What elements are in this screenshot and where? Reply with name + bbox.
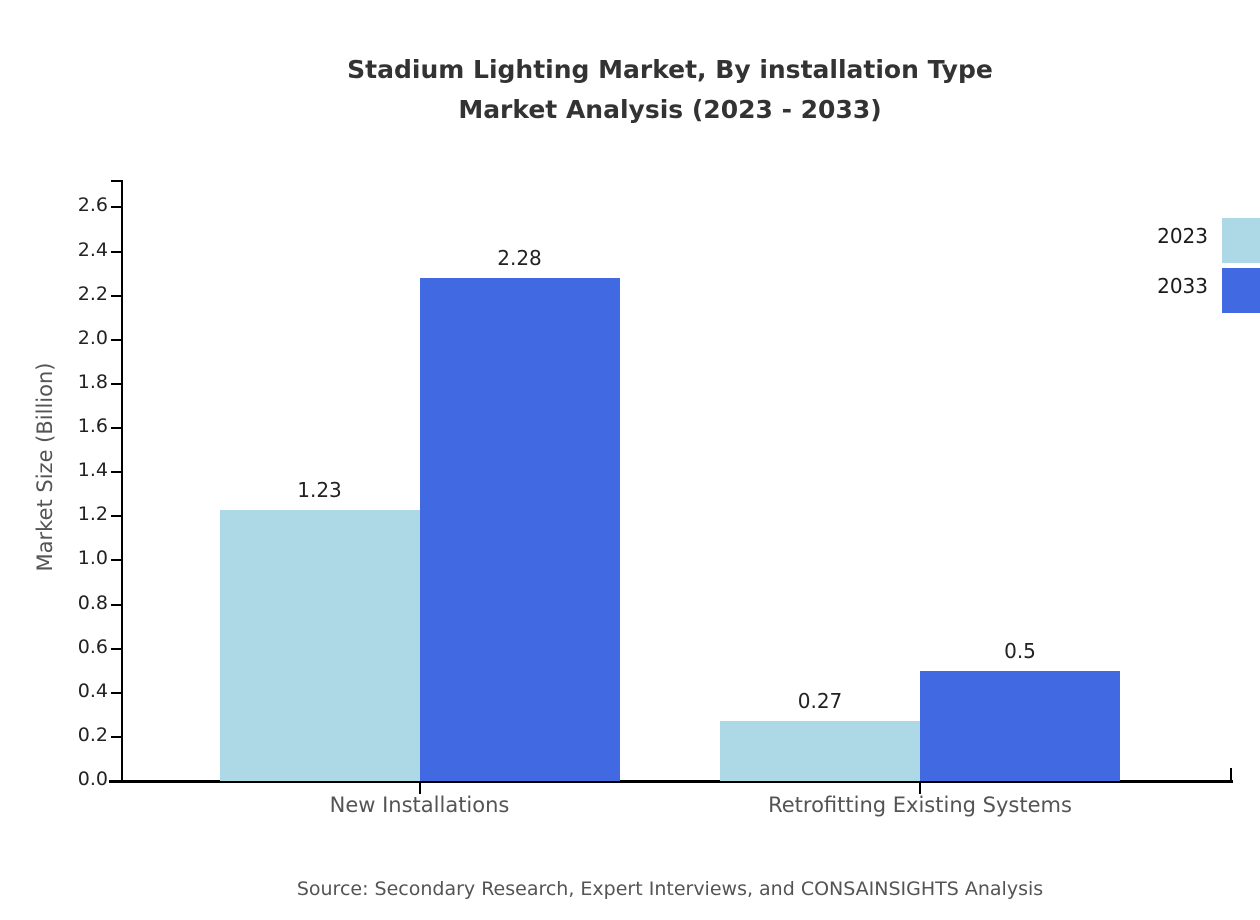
- bar-2023-1[interactable]: [720, 721, 920, 781]
- chart-title: Stadium Lighting Market, By installation…: [0, 50, 1260, 130]
- legend-item[interactable]: 2023: [1130, 218, 1260, 268]
- legend-label: 2023: [1130, 224, 1208, 248]
- x-tick-label: Retrofitting Existing Systems: [768, 793, 1072, 817]
- bar-value-label: 1.23: [297, 478, 342, 502]
- chart-figure: Stadium Lighting Market, By installation…: [0, 0, 1260, 920]
- bar-value-label: 0.27: [798, 689, 843, 713]
- bar-2033-0[interactable]: [420, 278, 620, 781]
- legend-label: 2033: [1130, 274, 1208, 298]
- chart-title-line-1: Stadium Lighting Market, By installation…: [0, 50, 1260, 90]
- bar-value-label: 0.5: [1004, 639, 1036, 663]
- chart-title-line-2: Market Analysis (2023 - 2033): [0, 90, 1260, 130]
- source-note: Source: Secondary Research, Expert Inter…: [0, 878, 1260, 900]
- bar-2023-0[interactable]: [220, 510, 420, 781]
- bar-2033-1[interactable]: [920, 671, 1120, 781]
- bars-layer: 1.230.272.280.5: [0, 181, 1260, 781]
- bar-value-label: 2.28: [497, 246, 542, 270]
- legend-swatch: [1222, 268, 1260, 313]
- legend-item[interactable]: 2033: [1130, 268, 1260, 318]
- x-tick-label: New Installations: [330, 793, 510, 817]
- chart-legend: 20232033: [1130, 218, 1260, 318]
- legend-swatch: [1222, 218, 1260, 263]
